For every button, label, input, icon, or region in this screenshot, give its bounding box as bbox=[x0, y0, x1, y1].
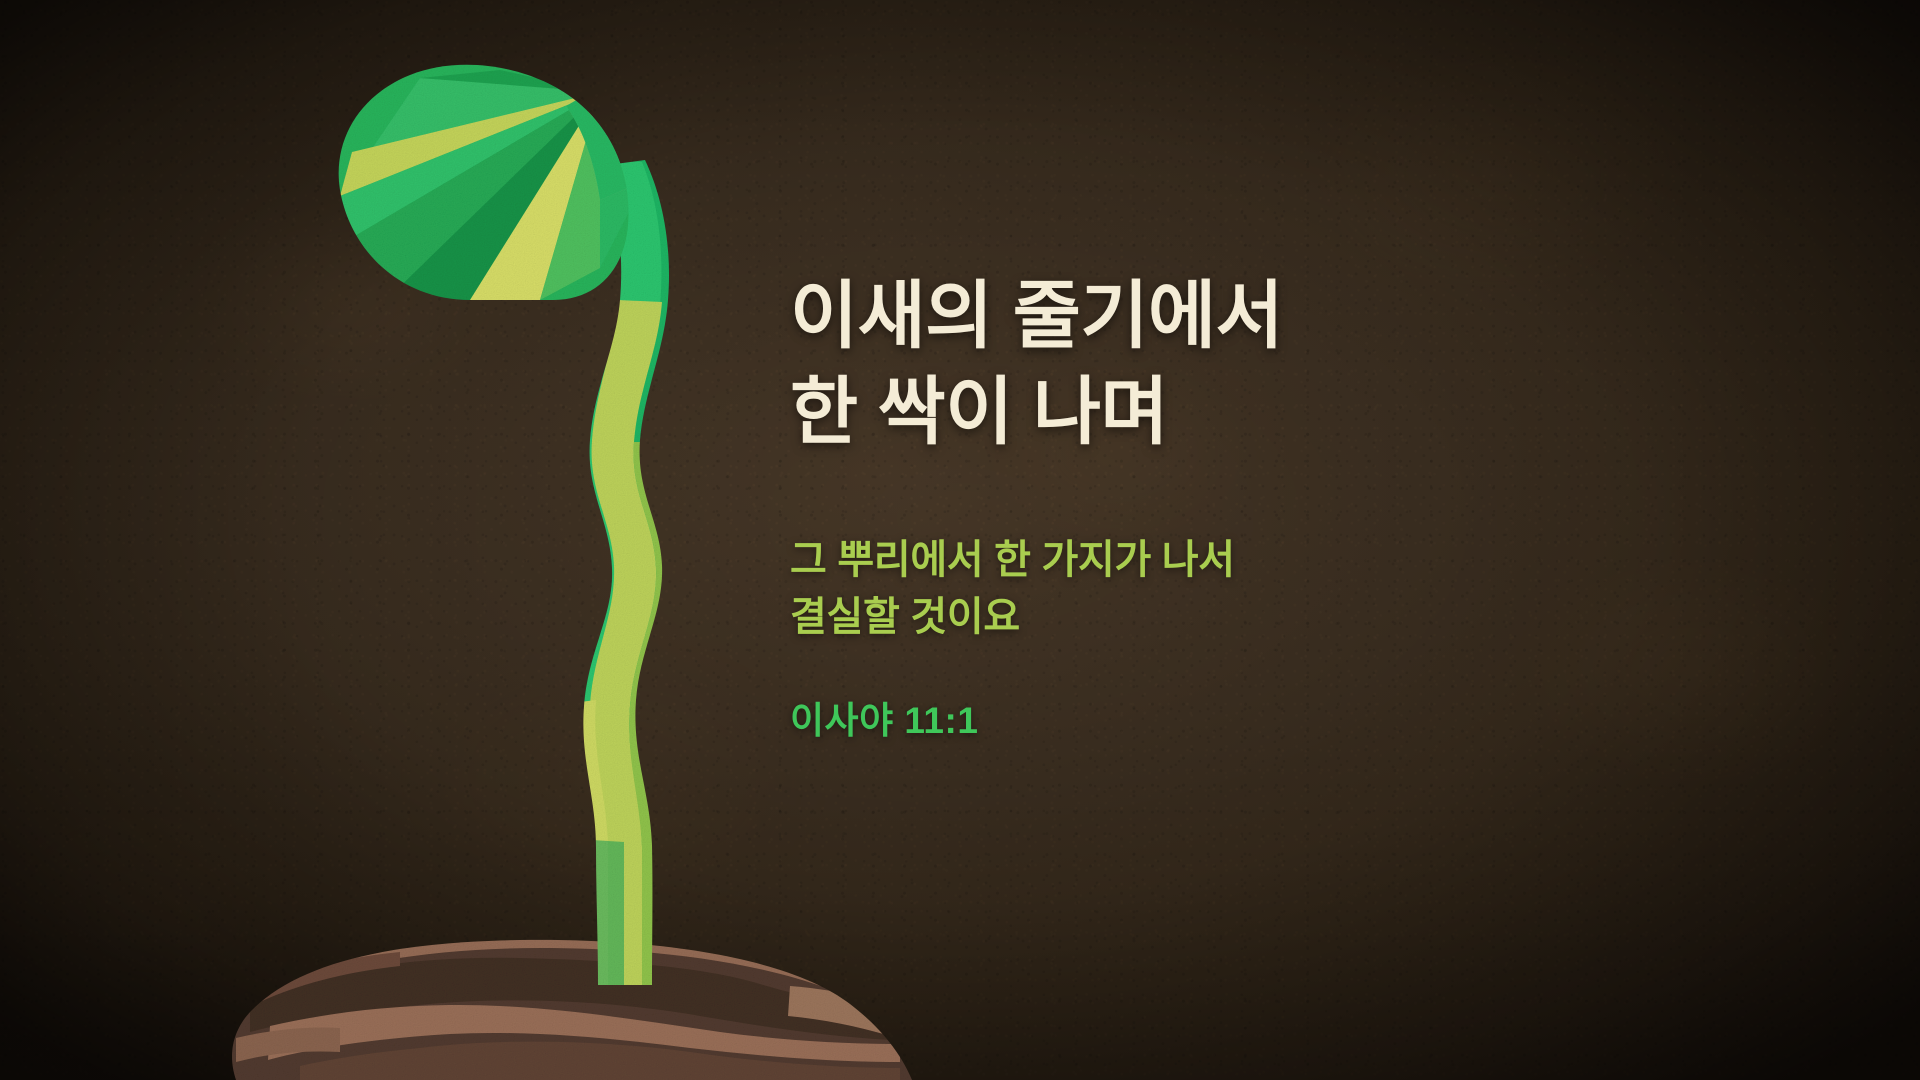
verse-title-line-1: 이새의 줄기에서 bbox=[790, 268, 1810, 364]
verse-title-line-2: 한 싹이 나며 bbox=[790, 364, 1810, 460]
verse-reference: 이사야 11:1 bbox=[790, 690, 1810, 744]
verse-subtitle-line-2: 결실할 것이요 bbox=[790, 589, 1810, 646]
slide-canvas: 이새의 줄기에서 한 싹이 나며 그 뿌리에서 한 가지가 나서 결실할 것이요… bbox=[0, 0, 1920, 1080]
verse-title: 이새의 줄기에서 한 싹이 나며 bbox=[790, 268, 1810, 460]
verse-subtitle: 그 뿌리에서 한 가지가 나서 결실할 것이요 bbox=[790, 532, 1810, 646]
verse-subtitle-line-1: 그 뿌리에서 한 가지가 나서 bbox=[790, 532, 1810, 589]
soil-mound bbox=[200, 920, 960, 1080]
verse-text-block: 이새의 줄기에서 한 싹이 나며 그 뿌리에서 한 가지가 나서 결실할 것이요… bbox=[790, 268, 1810, 744]
